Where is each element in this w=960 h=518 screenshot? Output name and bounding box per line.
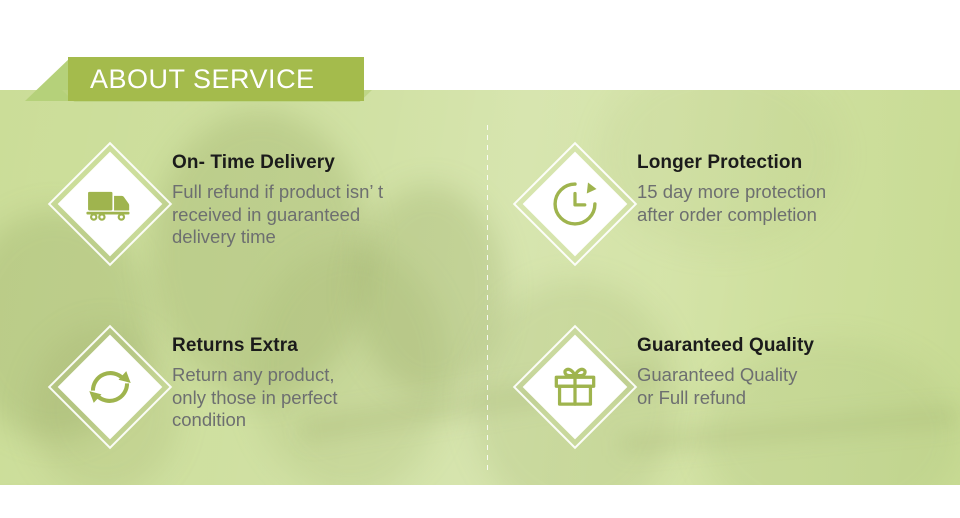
feature-description: 15 day more protection after order compl… <box>637 181 937 226</box>
feature-copy: On- Time Delivery Full refund if product… <box>172 142 462 249</box>
feature-returns-extra: Returns Extra Return any product, only t… <box>48 325 462 449</box>
feature-longer-protection: Longer Protection 15 day more protection… <box>513 142 937 266</box>
column-divider <box>487 125 488 470</box>
feature-title: Returns Extra <box>172 335 462 357</box>
feature-on-time-delivery: On- Time Delivery Full refund if product… <box>48 142 462 266</box>
feature-icon-badge <box>513 142 637 266</box>
feature-guaranteed-quality: Guaranteed Quality Guaranteed Quality or… <box>513 325 937 449</box>
feature-icon-badge <box>48 325 172 449</box>
feature-description: Guaranteed Quality or Full refund <box>637 364 937 409</box>
feature-icon-badge <box>48 142 172 266</box>
section-title-ribbon: ABOUT SERVICE <box>68 57 364 101</box>
feature-title: Guaranteed Quality <box>637 335 937 357</box>
gift-icon <box>547 359 603 415</box>
feature-copy: Guaranteed Quality Guaranteed Quality or… <box>637 325 937 409</box>
about-service-banner: ABOUT SERVICE <box>0 0 960 518</box>
page-title: ABOUT SERVICE <box>68 64 315 95</box>
feature-icon-badge <box>513 325 637 449</box>
ribbon-tail <box>25 57 71 101</box>
truck-icon <box>82 176 138 232</box>
feature-description: Return any product, only those in perfec… <box>172 364 462 432</box>
feature-title: On- Time Delivery <box>172 152 462 174</box>
feature-copy: Returns Extra Return any product, only t… <box>172 325 462 432</box>
clock-arrow-icon <box>547 176 603 232</box>
feature-description: Full refund if product isn’ t received i… <box>172 181 462 249</box>
refresh-cycle-icon <box>82 359 138 415</box>
feature-title: Longer Protection <box>637 152 937 174</box>
feature-copy: Longer Protection 15 day more protection… <box>637 142 937 226</box>
